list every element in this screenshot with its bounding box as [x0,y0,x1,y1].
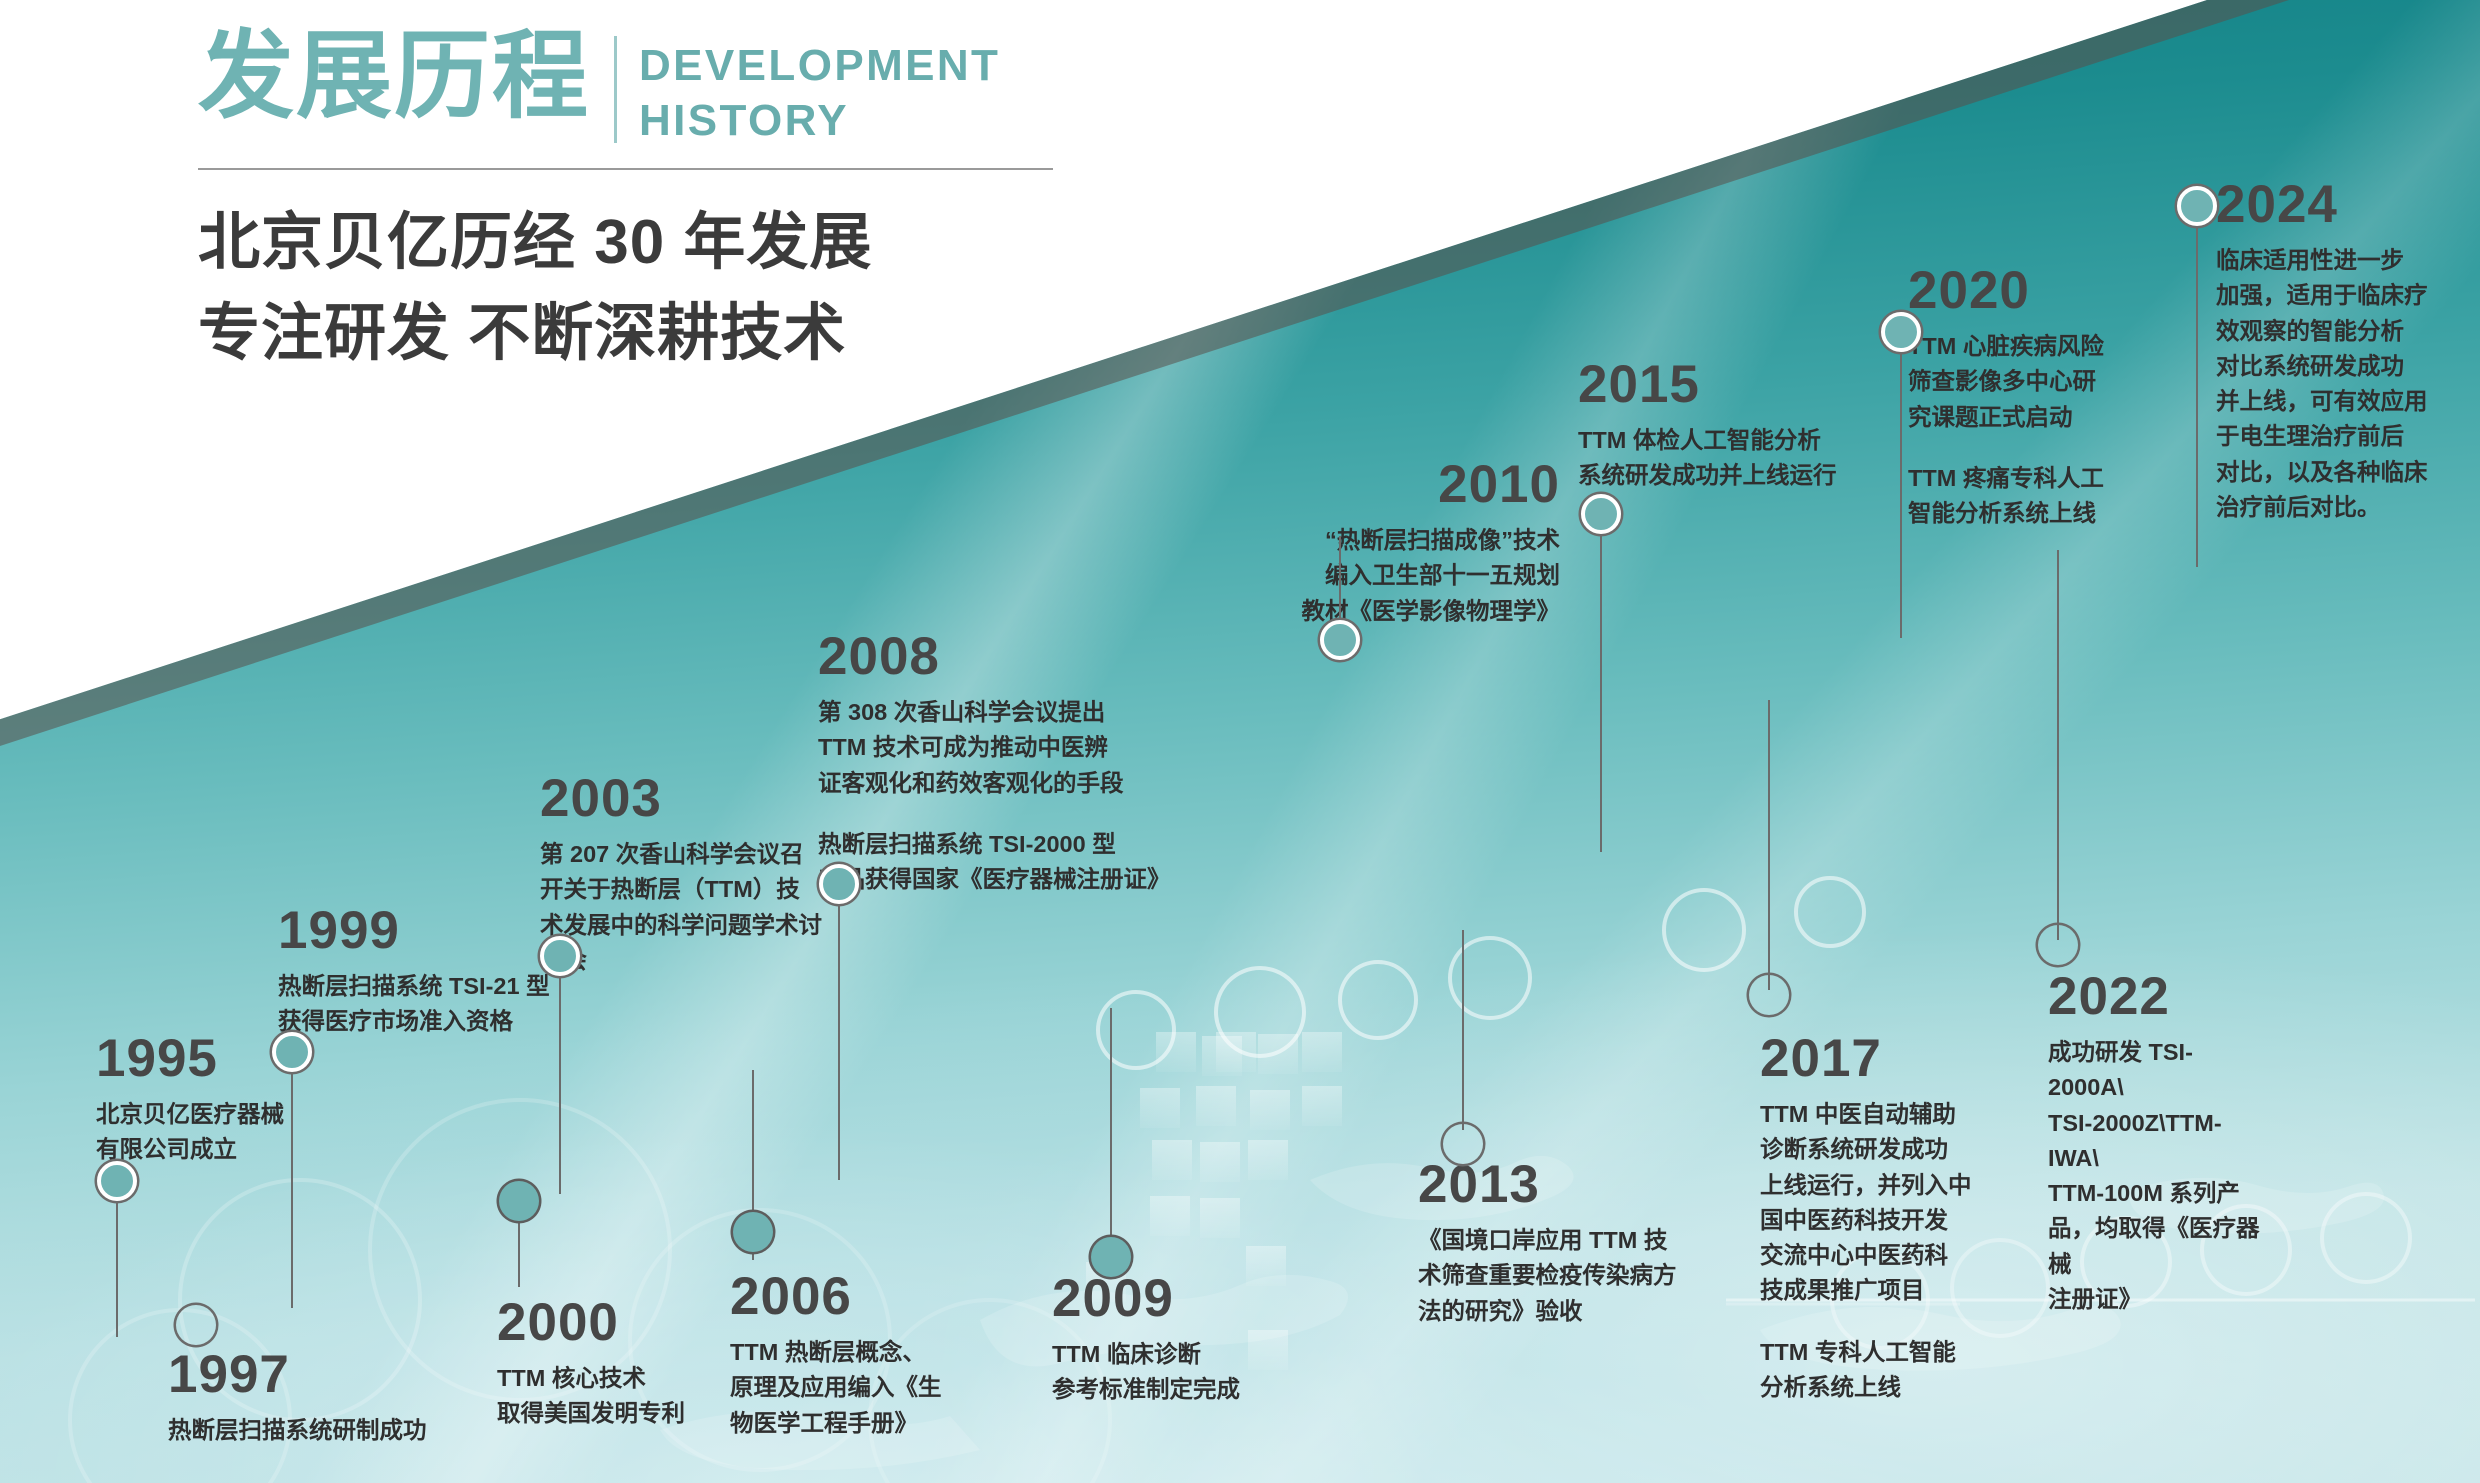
milestone-2024: 2024 临床适用性进一步 加强，适用于临床疗 效观察的智能分析 对比系统研发成… [2216,178,2446,525]
milestone-2013: 2013 《国境口岸应用 TTM 技 术筛查重要检疫传染病方 法的研究》验收 [1418,1158,1718,1329]
marker-dot[interactable] [2177,186,2217,226]
marker-stem [518,1217,520,1287]
marker-stem [2196,222,2198,567]
milestone-text: 成功研发 TSI- 2000A\ TSI-2000Z\TTM- IWA\ TTM… [2048,1035,2278,1317]
milestone-2010: 2010 “热断层扫描成像”技术 编入卫生部十一五规划 教材《医学影像物理学》 [1260,458,1560,629]
marker-dot[interactable] [1091,1237,1131,1277]
milestone-text: TTM 体检人工智能分析 系统研发成功并上线运行 [1578,423,1878,494]
header-rule [198,168,1053,170]
page-title-en-line2: HISTORY [639,93,1000,148]
milestone-year: 2008 [818,630,1218,684]
milestone-year: 2010 [1260,458,1560,512]
milestone-text-secondary: TTM 疼痛专科人工 智能分析系统上线 [1908,461,2158,532]
marker-dot[interactable] [1581,494,1621,534]
milestone-text: 《国境口岸应用 TTM 技 术筛查重要检疫传染病方 法的研究》验收 [1418,1223,1718,1329]
page-header: 发展历程 DEVELOPMENT HISTORY [198,28,1000,149]
marker-stem [559,972,561,1194]
milestone-text: 第 308 次香山科学会议提出 TTM 技术可成为推动中医辨 证客观化和药效客观… [818,695,1218,801]
milestone-2009: 2009 TTM 临床诊断 参考标准制定完成 [1052,1272,1352,1408]
milestone-1995: 1995 北京贝亿医疗器械 有限公司成立 [96,1032,386,1168]
milestone-year: 2015 [1578,358,1878,412]
milestone-2017: 2017 TTM 中医自动辅助 诊断系统研发成功 上线运行，并列入中 国中医药科… [1760,1032,1990,1405]
milestone-year: 2006 [730,1270,1020,1324]
page-title-en-line1: DEVELOPMENT [639,38,1000,93]
milestone-year: 1995 [96,1032,386,1086]
marker-stem [116,1197,118,1337]
milestone-year: 2009 [1052,1272,1352,1326]
milestone-2022: 2022 成功研发 TSI- 2000A\ TSI-2000Z\TTM- IWA… [2048,970,2278,1317]
marker-dot[interactable] [499,1181,539,1221]
milestone-text: 临床适用性进一步 加强，适用于临床疗 效观察的智能分析 对比系统研发成功 并上线… [2216,243,2446,525]
marker-dot[interactable] [2038,925,2078,965]
marker-dot[interactable] [1443,1124,1483,1164]
milestone-2008: 2008 第 308 次香山科学会议提出 TTM 技术可成为推动中医辨 证客观化… [818,630,1218,897]
marker-dot[interactable] [733,1212,773,1252]
page-title-en: DEVELOPMENT HISTORY [639,28,1000,149]
title-divider-bar [614,36,617,143]
milestone-year: 2022 [2048,970,2278,1024]
milestone-year: 2024 [2216,178,2446,232]
marker-stem [1600,530,1602,852]
marker-stem [1768,700,1770,990]
milestone-text: TTM 中医自动辅助 诊断系统研发成功 上线运行，并列入中 国中医药科技开发 交… [1760,1097,1990,1309]
milestone-text: TTM 临床诊断 参考标准制定完成 [1052,1337,1352,1408]
milestone-2020: 2020 TTM 心脏疾病风险 筛查影像多中心研 究课题正式启动 TTM 疼痛专… [1908,264,2158,531]
milestone-year: 2017 [1760,1032,1990,1086]
milestone-year: 2020 [1908,264,2158,318]
marker-dot[interactable] [1320,620,1360,660]
header-subtitle-line2: 专注研发 不断深耕技术 [198,289,872,380]
milestone-year: 2013 [1418,1158,1718,1212]
page-title-cn: 发展历程 [198,28,590,126]
marker-dot[interactable] [1881,312,1921,352]
milestone-2006: 2006 TTM 热断层概念、 原理及应用编入《生 物医学工程手册》 [730,1270,1020,1441]
marker-stem [291,1068,293,1308]
marker-stem [1110,1008,1112,1243]
milestone-2015: 2015 TTM 体检人工智能分析 系统研发成功并上线运行 [1578,358,1878,494]
milestone-text: “热断层扫描成像”技术 编入卫生部十一五规划 教材《医学影像物理学》 [1260,523,1560,629]
milestone-text: 第 207 次香山科学会议召 开关于热断层（TTM）技 术发展中的科学问题学术讨… [540,837,840,978]
milestone-text-secondary: TTM 专科人工智能 分析系统上线 [1760,1335,1990,1406]
marker-dot[interactable] [540,936,580,976]
header-subtitle: 北京贝亿历经 30 年发展 专注研发 不断深耕技术 [198,198,872,379]
milestone-year: 2003 [540,772,840,826]
header-subtitle-line1: 北京贝亿历经 30 年发展 [198,198,872,289]
milestone-text: TTM 心脏疾病风险 筛查影像多中心研 究课题正式启动 [1908,329,2158,435]
milestone-text: TTM 热断层概念、 原理及应用编入《生 物医学工程手册》 [730,1335,1020,1441]
marker-stem [1900,350,1902,638]
marker-stem [838,900,840,1180]
marker-dot[interactable] [1749,975,1789,1015]
infographic-canvas: 发展历程 DEVELOPMENT HISTORY 北京贝亿历经 30 年发展 专… [0,0,2480,1483]
marker-dot[interactable] [176,1305,216,1345]
milestone-text: 北京贝亿医疗器械 有限公司成立 [96,1097,386,1168]
marker-dot[interactable] [272,1032,312,1072]
marker-stem [2057,550,2059,940]
milestone-2003: 2003 第 207 次香山科学会议召 开关于热断层（TTM）技 术发展中的科学… [540,772,840,978]
marker-stem [1462,930,1464,1130]
marker-dot[interactable] [819,864,859,904]
milestone-text-secondary: 热断层扫描系统 TSI-2000 型 产品获得国家《医疗器械注册证》 [818,827,1218,898]
marker-dot[interactable] [97,1161,137,1201]
